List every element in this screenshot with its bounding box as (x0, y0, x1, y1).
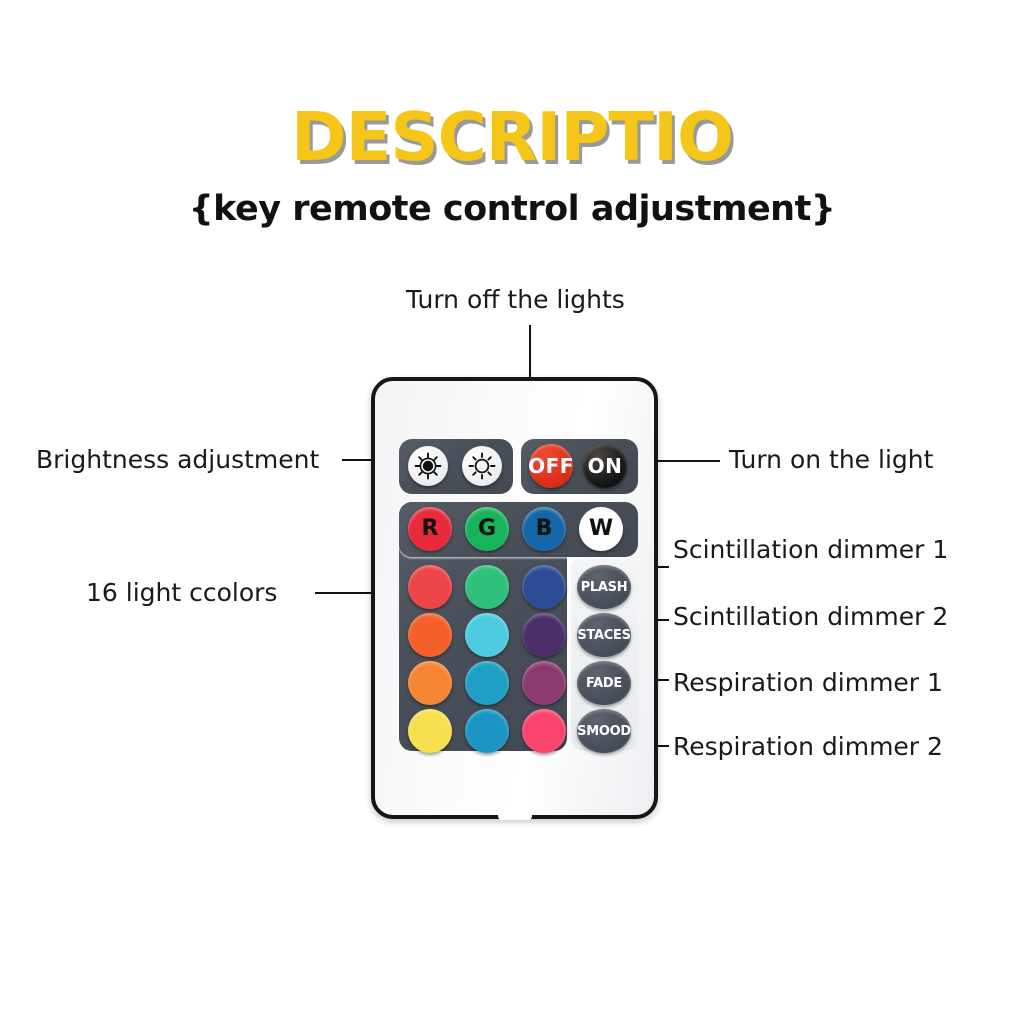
callout-scintillation-1: Scintillation dimmer 1 (673, 537, 948, 562)
callout-turn-on: Turn on the light (729, 447, 933, 472)
callout-respiration-1: Respiration dimmer 1 (673, 670, 943, 695)
remote-control-body: OFF ON R G B W (371, 377, 658, 819)
color-swatch[interactable] (465, 661, 509, 705)
color-swatch[interactable] (408, 565, 452, 609)
color-swatch[interactable] (408, 661, 452, 705)
mode-button-flash-label: PLASH (581, 581, 628, 594)
color-swatch[interactable] (465, 613, 509, 657)
mode-button-strobe-label: STACES (577, 629, 630, 642)
mode-button-smooth-label: SMOOD (577, 725, 631, 738)
color-swatch[interactable] (465, 565, 509, 609)
sun-outline-icon (468, 452, 496, 480)
callout-respiration-2: Respiration dimmer 2 (673, 734, 943, 759)
callout-turn-off: Turn off the lights (406, 287, 625, 312)
brightness-up-button[interactable] (408, 446, 448, 486)
color-button-red-label: R (422, 518, 439, 540)
color-button-blue[interactable]: B (522, 507, 566, 551)
color-swatch[interactable] (522, 661, 566, 705)
color-button-white[interactable]: W (579, 507, 623, 551)
color-button-green[interactable]: G (465, 507, 509, 551)
callout-colors: 16 light ccolors (86, 580, 277, 605)
power-off-label: OFF (528, 456, 574, 476)
color-swatch[interactable] (522, 709, 566, 753)
power-button-panel: OFF ON (521, 439, 638, 494)
color-swatch[interactable] (408, 613, 452, 657)
power-off-button[interactable]: OFF (529, 444, 573, 488)
brightness-down-button[interactable] (462, 446, 502, 486)
mode-button-strobe[interactable]: STACES (577, 613, 631, 657)
mode-button-fade[interactable]: FADE (577, 661, 631, 705)
color-swatch[interactable] (522, 613, 566, 657)
power-on-button[interactable]: ON (583, 444, 627, 488)
rgbw-button-panel: R G B W (399, 502, 638, 557)
color-button-green-label: G (478, 518, 496, 540)
mode-button-fade-label: FADE (586, 677, 622, 690)
callout-scintillation-2: Scintillation dimmer 2 (673, 604, 948, 629)
sun-filled-icon (414, 452, 442, 480)
power-on-label: ON (588, 456, 623, 476)
color-swatch[interactable] (522, 565, 566, 609)
brightness-button-panel (399, 439, 513, 494)
page-title: DESCRIPTIO (0, 104, 1024, 171)
callout-brightness: Brightness adjustment (36, 447, 319, 472)
remote-bottom-notch (498, 814, 532, 820)
mode-button-smooth[interactable]: SMOOD (577, 709, 631, 753)
color-swatch[interactable] (465, 709, 509, 753)
color-button-white-label: W (589, 518, 613, 540)
page-subtitle: {key remote control adjustment} (0, 192, 1024, 227)
diagram-canvas: DESCRIPTIO {key remote control adjustmen… (0, 0, 1024, 1024)
color-button-red[interactable]: R (408, 507, 452, 551)
mode-button-flash[interactable]: PLASH (577, 565, 631, 609)
color-button-blue-label: B (536, 518, 553, 540)
color-swatch[interactable] (408, 709, 452, 753)
